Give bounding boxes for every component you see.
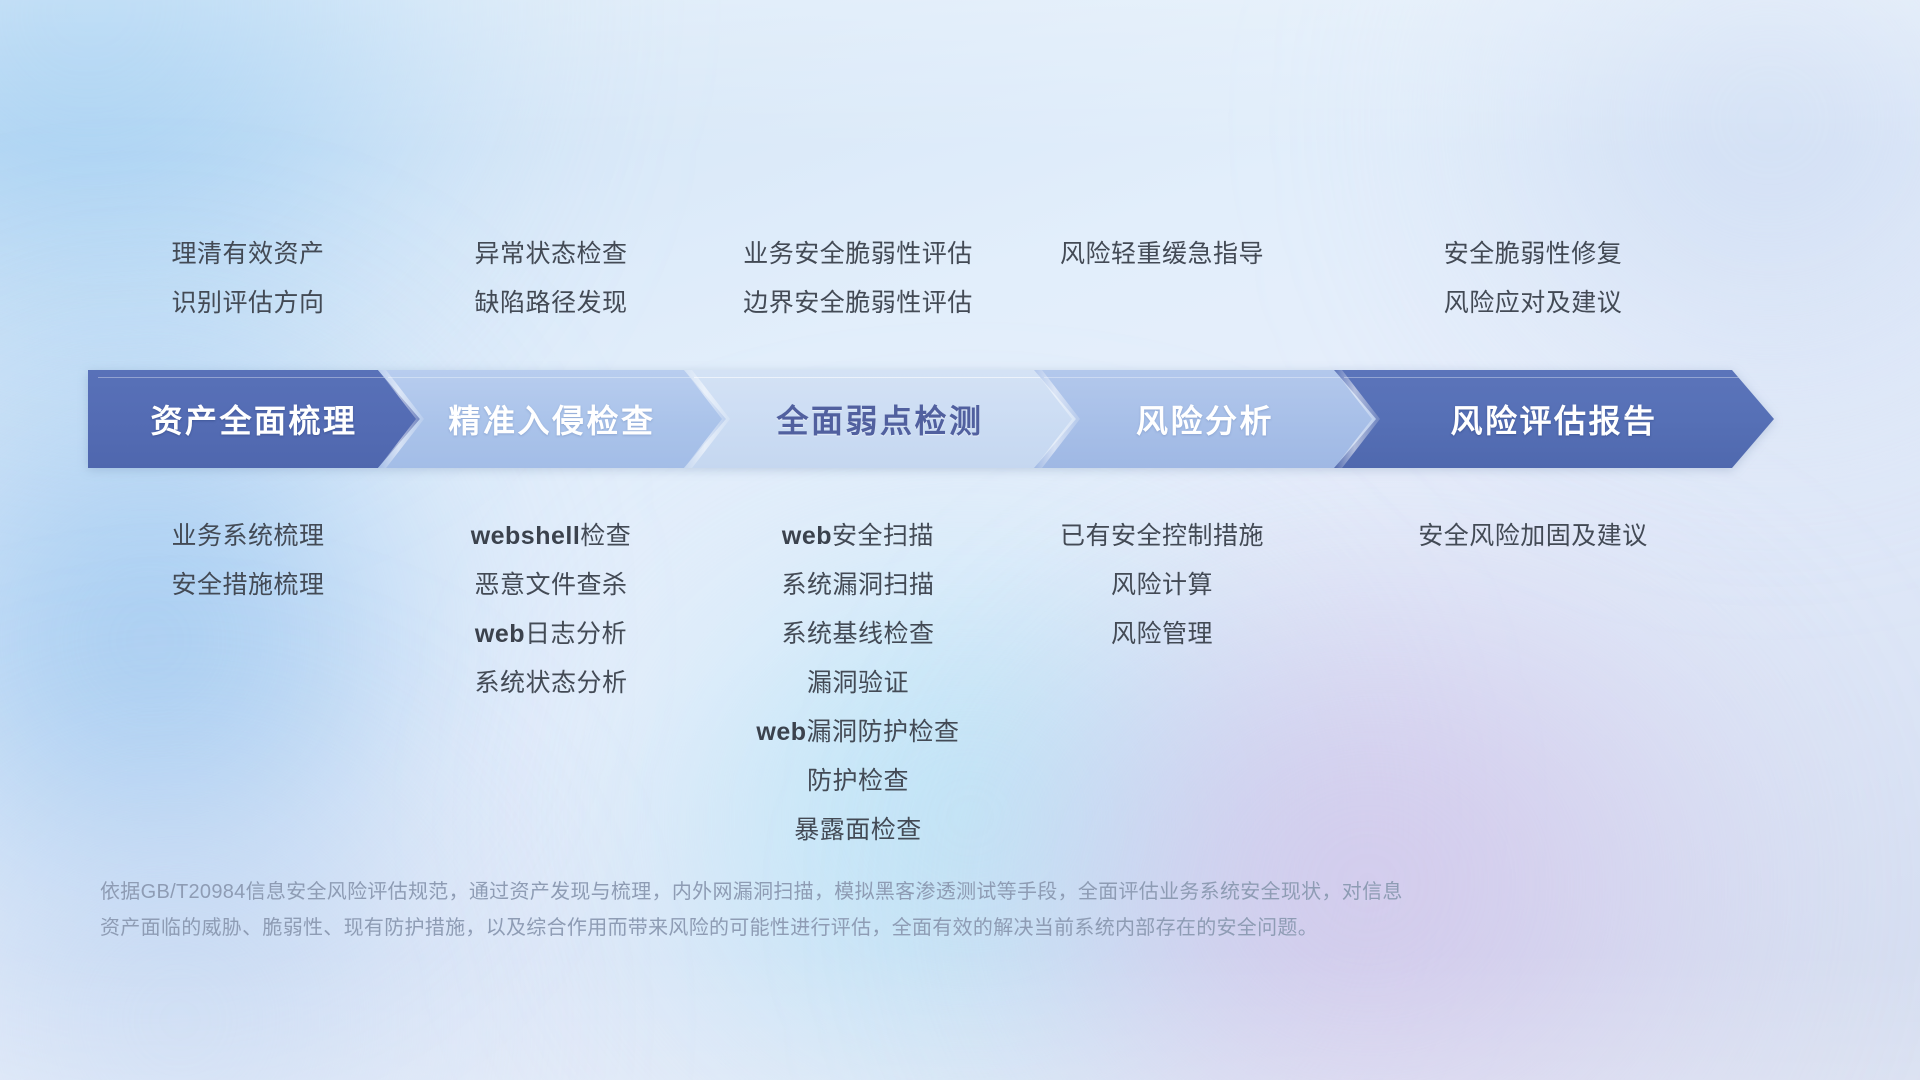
activity-text: 系统漏洞扫描 bbox=[781, 571, 934, 599]
activity-item: webshell检查 bbox=[408, 512, 694, 561]
activity-item: 安全风险加固及建议 bbox=[1228, 512, 1838, 561]
activity-text: 漏洞防护检查 bbox=[807, 718, 960, 746]
stage-chevron-asset-inventory[interactable]: 资产全面梳理 bbox=[88, 370, 420, 468]
activity-item: 系统状态分析 bbox=[408, 659, 694, 708]
activity-text: 风险管理 bbox=[1111, 620, 1213, 648]
activity-lead: webshell bbox=[471, 522, 581, 550]
stage-chevron-intrusion-check[interactable]: 精准入侵检查 bbox=[378, 370, 726, 468]
outcome-text: 业务安全脆弱性评估 bbox=[694, 230, 1022, 279]
outcome-text: 缺陷路径发现 bbox=[408, 279, 694, 328]
stage-chevron-band: 资产全面梳理 精准入侵检查 全面弱点检测 风险分析 风险评估报告 bbox=[88, 370, 1858, 468]
activity-lead: web bbox=[756, 718, 806, 746]
activity-text: 系统基线检查 bbox=[781, 620, 934, 648]
footer-description: 依据GB/T20984信息安全风险评估规范，通过资产发现与梳理，内外网漏洞扫描，… bbox=[100, 874, 1740, 946]
stage-activities-intrusion-check: webshell检查 恶意文件查杀 web日志分析 系统状态分析 bbox=[402, 512, 700, 855]
activity-item: web漏洞防护检查 bbox=[694, 708, 1022, 757]
stage-chevron-assessment-report[interactable]: 风险评估报告 bbox=[1334, 370, 1774, 468]
activity-text: 安全措施梳理 bbox=[171, 571, 324, 599]
outcome-text: 理清有效资产 bbox=[78, 230, 418, 279]
activity-text: 防护检查 bbox=[807, 767, 909, 795]
stage-activities-row: 业务系统梳理 安全措施梳理 webshell检查 恶意文件查杀 web日志分析 … bbox=[0, 512, 1920, 855]
activity-text: 风险计算 bbox=[1111, 571, 1213, 599]
activity-text: 业务系统梳理 bbox=[171, 522, 324, 550]
stage-label: 风险评估报告 bbox=[1450, 396, 1657, 442]
activity-item: 漏洞验证 bbox=[694, 659, 1022, 708]
stage-label: 资产全面梳理 bbox=[150, 396, 357, 442]
activity-item: 防护检查 bbox=[694, 757, 1022, 806]
activity-item: 系统基线检查 bbox=[694, 610, 1022, 659]
stage-chevron-risk-analysis[interactable]: 风险分析 bbox=[1034, 370, 1376, 468]
stage-outcomes-weakness-detection: 业务安全脆弱性评估 边界安全脆弱性评估 bbox=[688, 230, 1028, 328]
activity-text: 安全扫描 bbox=[832, 522, 934, 550]
outcome-text: 识别评估方向 bbox=[78, 279, 418, 328]
activity-item: web安全扫描 bbox=[694, 512, 1022, 561]
stage-outcomes-asset-inventory: 理清有效资产 识别评估方向 bbox=[72, 230, 424, 328]
stage-label: 全面弱点检测 bbox=[776, 396, 983, 442]
outcome-text: 安全脆弱性修复 bbox=[1228, 230, 1838, 279]
stage-label: 风险分析 bbox=[1136, 396, 1274, 442]
activity-lead: web bbox=[475, 620, 525, 648]
stage-activities-asset-inventory: 业务系统梳理 安全措施梳理 bbox=[72, 512, 424, 855]
activity-text: 暴露面检查 bbox=[794, 816, 922, 844]
stage-outcomes-row: 理清有效资产 识别评估方向 异常状态检查 缺陷路径发现 业务安全脆弱性评估 边界… bbox=[0, 230, 1920, 328]
activity-item: 系统漏洞扫描 bbox=[694, 561, 1022, 610]
footer-line-1: 依据GB/T20984信息安全风险评估规范，通过资产发现与梳理，内外网漏洞扫描，… bbox=[100, 874, 1740, 910]
outcome-text: 边界安全脆弱性评估 bbox=[694, 279, 1022, 328]
stage-activities-weakness-detection: web安全扫描 系统漏洞扫描 系统基线检查 漏洞验证 web漏洞防护检查 防护检… bbox=[688, 512, 1028, 855]
activity-text: 系统状态分析 bbox=[474, 669, 627, 697]
stage-outcomes-assessment-report: 安全脆弱性修复 风险应对及建议 bbox=[1222, 230, 1844, 328]
activity-item: 安全措施梳理 bbox=[78, 561, 418, 610]
stage-outcomes-intrusion-check: 异常状态检查 缺陷路径发现 bbox=[402, 230, 700, 328]
activity-text: 漏洞验证 bbox=[807, 669, 909, 697]
stage-activities-assessment-report: 安全风险加固及建议 bbox=[1222, 512, 1844, 855]
activity-item: web日志分析 bbox=[408, 610, 694, 659]
stage-chevron-weakness-detection[interactable]: 全面弱点检测 bbox=[684, 370, 1076, 468]
activity-item: 暴露面检查 bbox=[694, 806, 1022, 855]
activity-text: 日志分析 bbox=[525, 620, 627, 648]
activity-text: 检查 bbox=[580, 522, 631, 550]
activity-text: 恶意文件查杀 bbox=[474, 571, 627, 599]
activity-lead: web bbox=[782, 522, 832, 550]
outcome-text: 异常状态检查 bbox=[408, 230, 694, 279]
activity-text: 安全风险加固及建议 bbox=[1418, 522, 1648, 550]
stage-label: 精准入侵检查 bbox=[448, 396, 655, 442]
outcome-text: 风险应对及建议 bbox=[1228, 279, 1838, 328]
activity-item: 恶意文件查杀 bbox=[408, 561, 694, 610]
process-diagram: 理清有效资产 识别评估方向 异常状态检查 缺陷路径发现 业务安全脆弱性评估 边界… bbox=[0, 0, 1920, 1080]
footer-line-2: 资产面临的威胁、脆弱性、现有防护措施，以及综合作用而带来风险的可能性进行评估，全… bbox=[100, 910, 1740, 946]
activity-item: 业务系统梳理 bbox=[78, 512, 418, 561]
